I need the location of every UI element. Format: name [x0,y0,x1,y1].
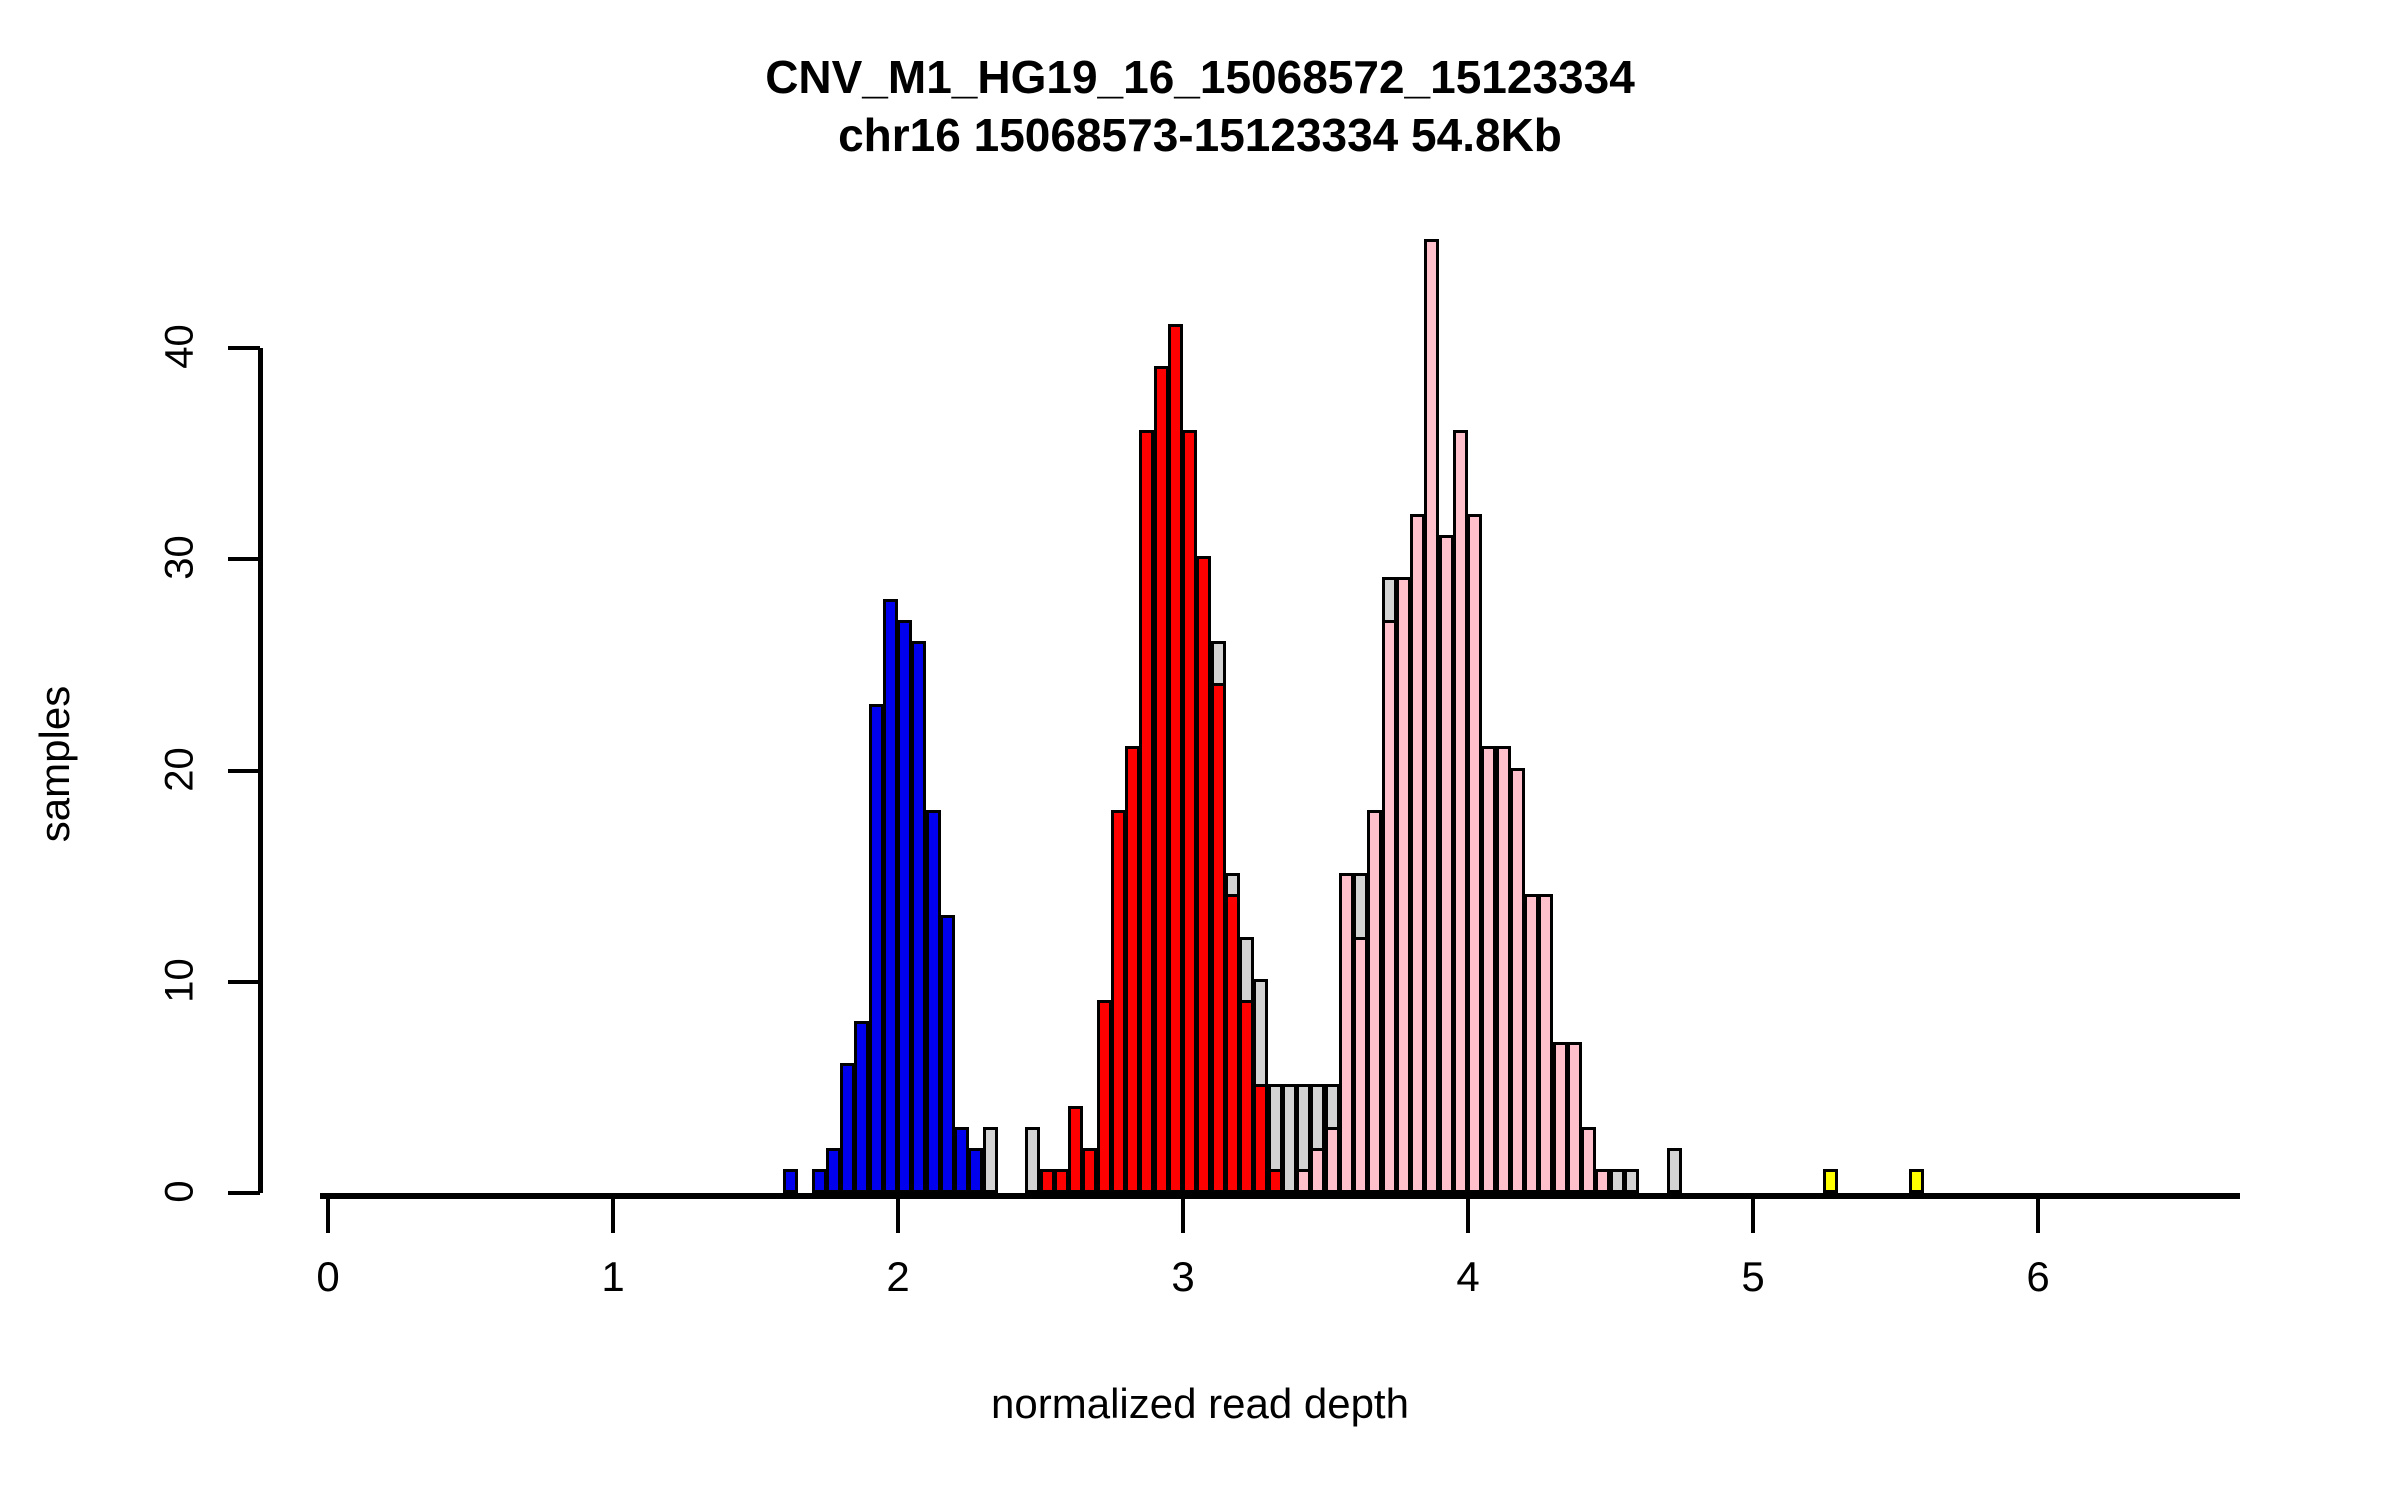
histogram-bar-segment-pink [1524,894,1539,1193]
histogram-bar-segment-red [1211,683,1226,1193]
histogram-bar-segment-gray [1211,641,1226,686]
histogram-bar [1567,1045,1582,1193]
histogram-bar-segment-pink [1481,746,1496,1193]
histogram-bar-segment-pink [1424,239,1439,1193]
histogram-bar [1439,538,1454,1193]
histogram-bar-segment-gray [1667,1148,1682,1193]
histogram-bar-segment-blue [869,704,884,1193]
histogram-bar [1382,580,1397,1193]
histogram-bar-segment-gray [1310,1084,1325,1150]
x-axis-tick [326,1199,330,1233]
histogram-bar [826,1151,841,1193]
histogram-bar [783,1172,798,1193]
histogram-bar [1396,580,1411,1193]
histogram-bar [1154,369,1169,1193]
histogram-bar [854,1024,869,1193]
histogram-bar [1253,982,1268,1193]
histogram-bar-segment-pink [1339,873,1354,1193]
histogram-bar-segment-red [1068,1106,1083,1194]
x-axis-tick [1751,1199,1755,1233]
histogram-bar-segment-gray [1610,1169,1625,1193]
histogram-bar [1325,1087,1340,1193]
histogram-bar-segment-blue [940,915,955,1193]
histogram-bar [1268,1087,1283,1193]
histogram-bar-segment-gray [1225,873,1240,897]
histogram-bar-segment-blue [911,641,926,1193]
x-axis-tick-label: 0 [288,1253,368,1301]
x-axis-title: normalized read depth [0,1380,2400,1428]
histogram-bar-segment-pink [1382,620,1397,1193]
histogram-bar-segment-gray [1239,937,1254,1003]
y-axis-tick [228,1191,260,1195]
x-axis-tick [1181,1199,1185,1233]
histogram-bar [1282,1087,1297,1193]
histogram-bar-segment-pink [1325,1127,1340,1193]
histogram-bar-segment-red [1182,430,1197,1194]
histogram-bar-segment-gray [1025,1127,1040,1193]
histogram-bar [1624,1172,1639,1193]
y-axis-tick-label: 40 [158,317,203,377]
histogram-bar [1667,1151,1682,1193]
x-axis-line [320,1193,2240,1199]
x-axis-tick [1466,1199,1470,1233]
histogram-bar [1353,876,1368,1193]
histogram-bar [1453,433,1468,1194]
histogram-bar [1496,749,1511,1193]
histogram-bar [1339,876,1354,1193]
histogram-bar-segment-pink [1595,1169,1610,1193]
histogram-bar-segment-blue [897,620,912,1193]
histogram-bar-segment-red [1225,894,1240,1193]
histogram-bar [1054,1172,1069,1193]
histogram-bar-segment-red [1111,810,1126,1193]
histogram-bar-segment-pink [1367,810,1382,1193]
histogram-bar-segment-red [1125,746,1140,1193]
histogram-bar [1068,1109,1083,1194]
histogram-bar [1082,1151,1097,1193]
histogram-bar-segment-blue [968,1148,983,1193]
histogram-bar-segment-blue [812,1169,827,1193]
chart-page: CNV_M1_HG19_16_15068572_15123334 chr16 1… [0,0,2400,1500]
histogram-bar-segment-pink [1310,1148,1325,1193]
x-axis-tick-label: 4 [1428,1253,1508,1301]
x-axis-tick-label: 5 [1713,1253,1793,1301]
x-axis-tick [896,1199,900,1233]
histogram-bar [1310,1087,1325,1193]
histogram-bar-segment-pink [1567,1042,1582,1193]
x-axis-tick-label: 3 [1143,1253,1223,1301]
histogram-bar [983,1130,998,1193]
histogram-bar-segment-red [1154,366,1169,1193]
histogram-bar-segment-red [1097,1000,1112,1193]
histogram-bar [1040,1172,1055,1193]
y-axis-tick-label: 0 [158,1162,203,1222]
x-axis-tick [611,1199,615,1233]
histogram-bar [1538,897,1553,1193]
y-axis-tick-label: 10 [158,950,203,1010]
histogram-bar-segment-red [1040,1169,1055,1193]
y-axis-tick [228,980,260,984]
histogram-bar [1524,897,1539,1193]
histogram-bar-segment-red [1168,324,1183,1193]
histogram-bar-segment-pink [1510,768,1525,1194]
histogram-bar [1424,242,1439,1193]
histogram-bar [1097,1003,1112,1193]
histogram-bar-segment-pink [1396,577,1411,1193]
plot-area: 0102030400123456samplesnormalized read d… [0,0,2400,1500]
histogram-bar-segment-red [1268,1169,1283,1193]
histogram-bar [883,602,898,1194]
histogram-bar-segment-pink [1553,1042,1568,1193]
histogram-bar-segment-blue [926,810,941,1193]
histogram-bar [1125,749,1140,1193]
histogram-bar [1610,1172,1625,1193]
y-axis-tick-label: 20 [158,739,203,799]
histogram-bar-segment-blue [883,599,898,1194]
histogram-bar [1168,327,1183,1193]
histogram-bar [1553,1045,1568,1193]
histogram-bar-segment-red [1139,430,1154,1194]
histogram-bar [940,918,955,1193]
histogram-bar-segment-gray [1296,1084,1311,1172]
histogram-bar [911,644,926,1193]
y-axis-title: samples [31,634,79,894]
y-axis-tick [228,557,260,561]
histogram-bar-segment-pink [1496,746,1511,1193]
histogram-bar [1595,1172,1610,1193]
histogram-bar-segment-blue [826,1148,841,1193]
histogram-bar [1196,559,1211,1193]
histogram-bar [1510,771,1525,1194]
histogram-bar-segment-pink [1439,535,1454,1193]
y-axis-tick [228,769,260,773]
histogram-bar-segment-pink [1467,514,1482,1193]
histogram-bar [1111,813,1126,1193]
histogram-bar-segment-blue [840,1063,855,1193]
histogram-bar-segment-red [1054,1169,1069,1193]
histogram-bar-segment-gray [983,1127,998,1193]
histogram-bar [869,707,884,1193]
histogram-bar [812,1172,827,1193]
histogram-bar [1296,1087,1311,1193]
y-axis-tick-label: 30 [158,528,203,588]
histogram-bar-segment-yellow [1909,1169,1924,1193]
histogram-bar [1909,1172,1924,1193]
histogram-bar-segment-blue [954,1127,969,1193]
histogram-bar-segment-gray [1353,873,1368,939]
histogram-bar-segment-red [1239,1000,1254,1193]
histogram-bar [968,1151,983,1193]
x-axis-tick-label: 6 [1998,1253,2078,1301]
histogram-bar-segment-blue [854,1021,869,1193]
histogram-bar [1139,433,1154,1194]
y-axis-tick [228,346,260,350]
histogram-bar-segment-pink [1453,430,1468,1194]
histogram-bar [1211,644,1226,1193]
histogram-bar [1581,1130,1596,1193]
histogram-bar [1225,876,1240,1193]
histogram-bar-segment-gray [1282,1084,1297,1193]
histogram-bar-segment-gray [1382,577,1397,622]
histogram-bar-segment-pink [1410,514,1425,1193]
histogram-bar-segment-red [1082,1148,1097,1193]
histogram-bar [1481,749,1496,1193]
histogram-bar-segment-blue [783,1169,798,1193]
histogram-bar-segment-pink [1538,894,1553,1193]
x-axis-tick-label: 2 [858,1253,938,1301]
histogram-bar-segment-gray [1624,1169,1639,1193]
histogram-bar-segment-pink [1581,1127,1596,1193]
histogram-bar-segment-gray [1268,1084,1283,1172]
histogram-bar [1025,1130,1040,1193]
histogram-bar [1239,940,1254,1194]
x-axis-tick-label: 1 [573,1253,653,1301]
histogram-bar-segment-red [1196,556,1211,1193]
histogram-bar-segment-gray [1253,979,1268,1088]
histogram-bar-segment-red [1253,1084,1268,1193]
histogram-bar-segment-pink [1296,1169,1311,1193]
histogram-bar [840,1066,855,1193]
histogram-bar [926,813,941,1193]
histogram-bar [1467,517,1482,1193]
histogram-bar-segment-yellow [1823,1169,1838,1193]
histogram-bar [1823,1172,1838,1193]
histogram-bar [1367,813,1382,1193]
histogram-bar [897,623,912,1193]
histogram-bar [1182,433,1197,1194]
histogram-bar-segment-pink [1353,937,1368,1194]
histogram-bar-segment-gray [1325,1084,1340,1129]
histogram-bar [954,1130,969,1193]
histogram-bar [1410,517,1425,1193]
x-axis-tick [2036,1199,2040,1233]
